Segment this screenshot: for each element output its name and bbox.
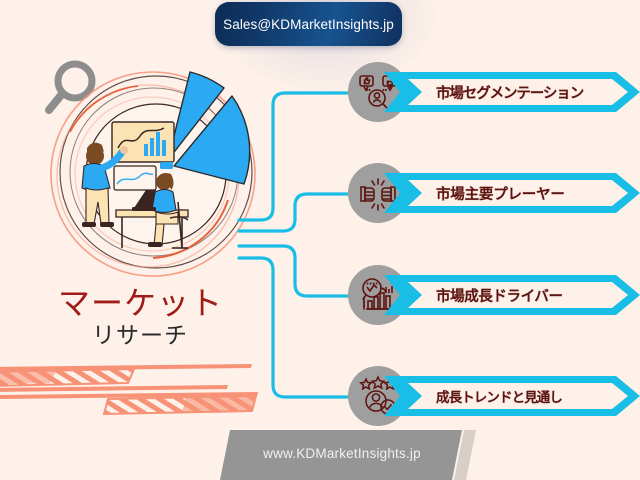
node-market-segmentation[interactable]: 市場セグメンテーション [348, 62, 640, 122]
email-badge[interactable]: Sales@KDMarketInsights.jp [215, 2, 402, 46]
infographic-canvas: Sales@KDMarketInsights.jp [0, 0, 640, 480]
node-label: 成長トレンドと見通し [436, 376, 626, 416]
page-subtitle: リサーチ [92, 316, 188, 350]
banner-market-key-players[interactable]: 市場主要プレーヤー [384, 173, 640, 213]
node-label: 市場主要プレーヤー [436, 173, 626, 213]
node-growth-trends-outlook[interactable]: 成長トレンドと見通し [348, 366, 640, 426]
footer-website: www.KDMarketInsights.jp [232, 446, 452, 461]
banner-market-segmentation[interactable]: 市場セグメンテーション [384, 72, 640, 112]
banner-market-growth-drivers[interactable]: 市場成長ドライバー [384, 275, 640, 315]
node-market-growth-drivers[interactable]: 市場成長ドライバー [348, 265, 640, 325]
banner-growth-trends-outlook[interactable]: 成長トレンドと見通し [384, 376, 640, 416]
market-research-team-illustration [48, 62, 268, 282]
node-label: 市場セグメンテーション [436, 72, 626, 112]
node-label: 市場成長ドライバー [436, 275, 626, 315]
striped-bars-decoration [0, 355, 290, 421]
email-label: Sales@KDMarketInsights.jp [223, 17, 394, 32]
node-market-key-players[interactable]: 市場主要プレーヤー [348, 163, 640, 223]
